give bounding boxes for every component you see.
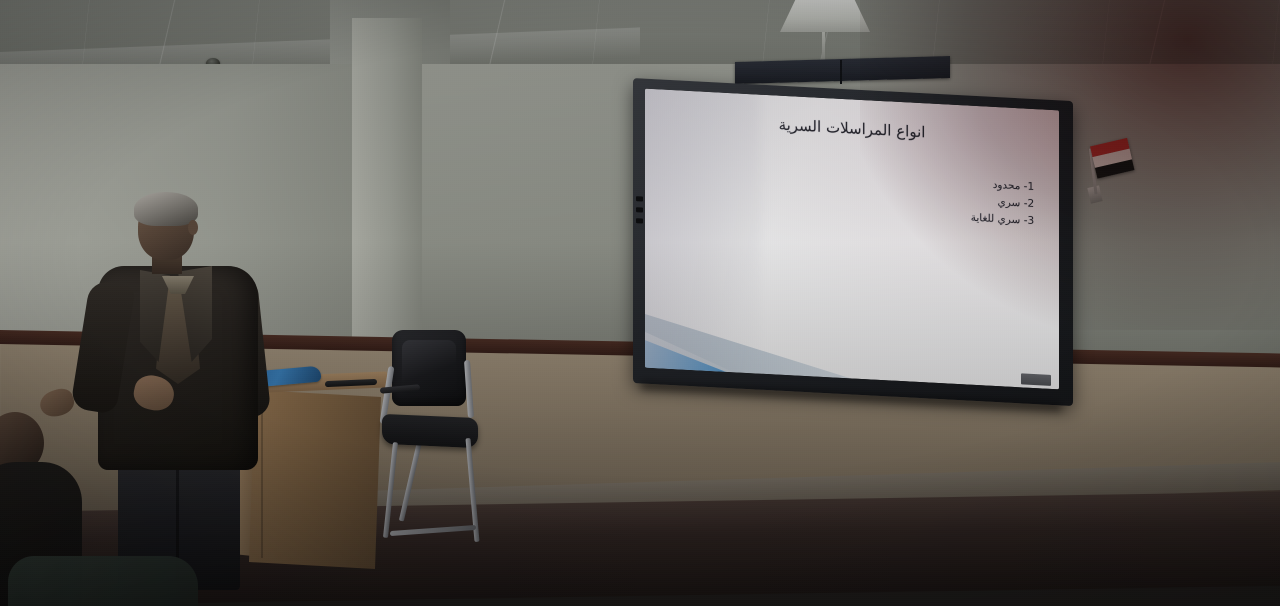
presenter-hair: [134, 192, 198, 226]
interactive-display[interactable]: انواع المراسلات السرية 1- محدود 2- سري 3…: [633, 78, 1073, 406]
display-button[interactable]: [636, 196, 643, 201]
lecture-hall-photo: انواع المراسلات السرية 1- محدود 2- سري 3…: [0, 0, 1280, 606]
ceiling-lamp: [780, 0, 870, 32]
chair-leg: [399, 440, 422, 521]
chair-base-rail: [390, 525, 476, 536]
display-screen[interactable]: انواع المراسلات السرية 1- محدود 2- سري 3…: [645, 89, 1059, 390]
slide-list: 1- محدود 2- سري 3- سري للغاية: [971, 175, 1034, 229]
list-item: 3- سري للغاية: [971, 209, 1034, 229]
foreground-object: [8, 556, 198, 606]
speaker-bar-split: [840, 60, 842, 84]
conference-chair[interactable]: [362, 330, 502, 560]
wall-pillar: [352, 18, 422, 358]
chair-leg: [383, 442, 398, 538]
presentation-slide: انواع المراسلات السرية 1- محدود 2- سري 3…: [645, 89, 1059, 390]
presenter-ear: [188, 220, 198, 235]
presenter: [84, 196, 274, 586]
display-side-buttons[interactable]: [636, 196, 643, 230]
display-button[interactable]: [636, 218, 643, 223]
display-control-plate[interactable]: [1021, 373, 1051, 386]
flag-cloth: [1090, 138, 1134, 179]
slide-title: انواع المراسلات السرية: [645, 108, 1059, 148]
chair-arm-right: [464, 360, 474, 418]
display-button[interactable]: [636, 207, 643, 212]
